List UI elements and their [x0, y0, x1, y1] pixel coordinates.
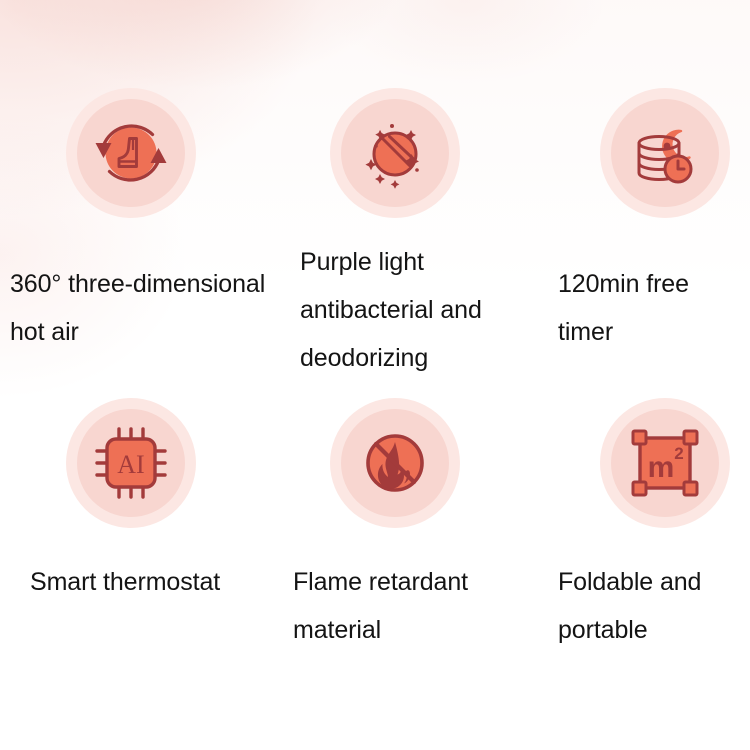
svg-text:m: m [648, 451, 675, 484]
feature-label: 360° three-dimensional hot air [10, 260, 320, 356]
feature-card-flame-retardant: Flame retardant material [278, 398, 548, 708]
uv-sphere-sparkle-icon [330, 88, 460, 218]
feature-label: Flame retardant material [293, 558, 543, 654]
feature-card-smart-thermostat: AI Smart thermostat [8, 398, 278, 708]
square-meter-foldable-icon: m 2 [600, 398, 730, 528]
svg-text:AI: AI [117, 450, 144, 479]
feature-label: Smart thermostat [30, 558, 290, 606]
timer-moon-clock-icon [600, 88, 730, 218]
feature-grid: 360° three-dimensional hot air Purple li… [0, 0, 750, 750]
feature-card-purple-light: Purple light antibacterial and deodorizi… [278, 88, 548, 398]
feature-card-timer: 120min free timer [548, 88, 750, 398]
svg-text:2: 2 [674, 444, 683, 463]
feature-card-360-hot-air: 360° three-dimensional hot air [8, 88, 278, 398]
no-flame-icon [330, 398, 460, 528]
feature-card-foldable: m 2 Foldable and portable [548, 398, 750, 708]
ai-chip-icon: AI [66, 398, 196, 528]
feature-label: 120min free timer [558, 260, 750, 356]
feature-label: Purple light antibacterial and deodorizi… [300, 238, 550, 382]
rotating-boot-icon [66, 88, 196, 218]
feature-label: Foldable and portable [558, 558, 750, 654]
